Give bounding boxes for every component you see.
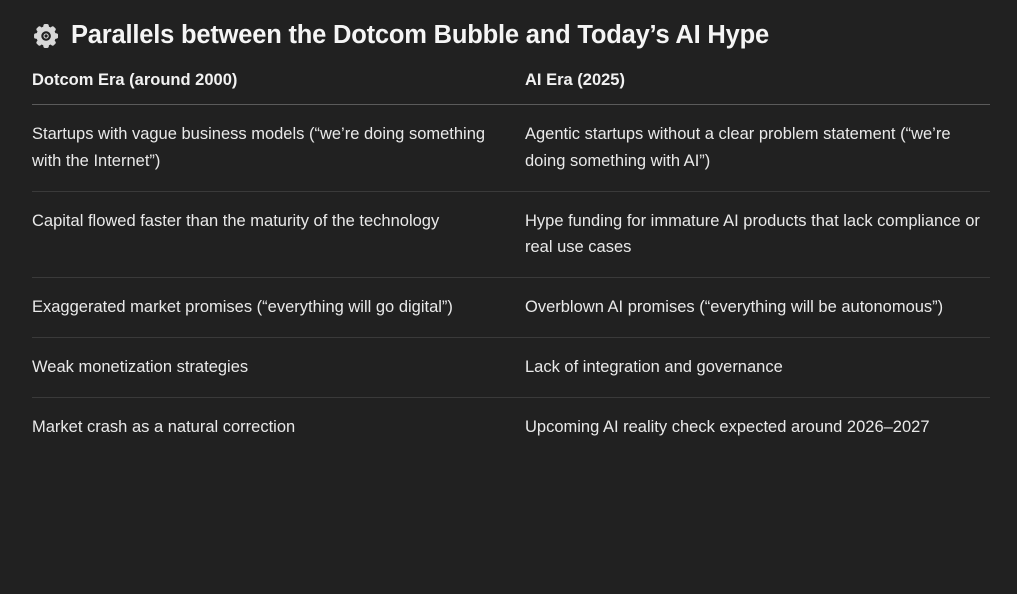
table-header-row: Dotcom Era (around 2000) AI Era (2025) <box>32 70 990 105</box>
cell-ai: Upcoming AI reality check expected aroun… <box>525 397 990 456</box>
gear-icon <box>32 23 58 49</box>
cell-dotcom: Weak monetization strategies <box>32 337 525 397</box>
cell-dotcom: Market crash as a natural correction <box>32 397 525 456</box>
table-row: Market crash as a natural correction Upc… <box>32 397 990 456</box>
table-row: Exaggerated market promises (“everything… <box>32 278 990 338</box>
table-header: Dotcom Era (around 2000) AI Era (2025) <box>32 70 990 105</box>
page-root: Parallels between the Dotcom Bubble and … <box>0 0 1017 594</box>
table-row: Weak monetization strategies Lack of int… <box>32 337 990 397</box>
table-row: Capital flowed faster than the maturity … <box>32 191 990 277</box>
cell-ai: Overblown AI promises (“everything will … <box>525 278 990 338</box>
page-header: Parallels between the Dotcom Bubble and … <box>32 0 990 58</box>
cell-dotcom: Startups with vague business models (“we… <box>32 105 525 191</box>
table-body: Startups with vague business models (“we… <box>32 105 990 457</box>
cell-ai: Agentic startups without a clear problem… <box>525 105 990 191</box>
parallels-table: Dotcom Era (around 2000) AI Era (2025) S… <box>32 70 990 456</box>
cell-ai: Lack of integration and governance <box>525 337 990 397</box>
column-header-ai-era: AI Era (2025) <box>525 70 990 105</box>
cell-ai: Hype funding for immature AI products th… <box>525 191 990 277</box>
page-title: Parallels between the Dotcom Bubble and … <box>71 20 769 52</box>
column-header-dotcom-era: Dotcom Era (around 2000) <box>32 70 525 105</box>
table-row: Startups with vague business models (“we… <box>32 105 990 191</box>
cell-dotcom: Exaggerated market promises (“everything… <box>32 278 525 338</box>
cell-dotcom: Capital flowed faster than the maturity … <box>32 191 525 277</box>
